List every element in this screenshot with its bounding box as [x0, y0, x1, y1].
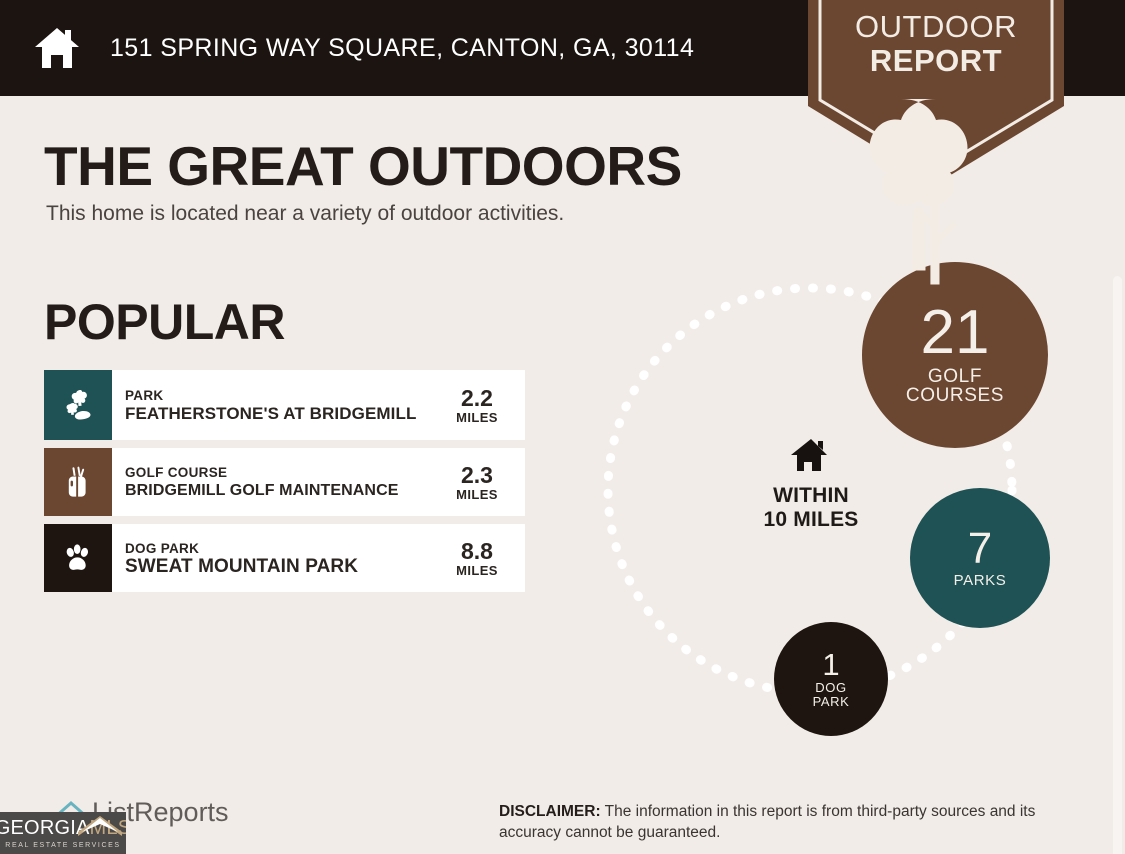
page-subtitle: This home is located near a variety of o… — [46, 202, 564, 226]
scrollbar-track[interactable] — [1108, 96, 1125, 854]
list-item[interactable]: PARK FEATHERSTONE'S AT BRIDGEMILL 2.2 MI… — [44, 370, 525, 440]
stat-count: 21 — [921, 304, 990, 363]
poi-name: FEATHERSTONE'S AT BRIDGEMILL — [125, 404, 441, 423]
georgiamls-watermark: GEORGIA MLS REAL ESTATE SERVICES — [0, 812, 126, 854]
home-icon — [34, 26, 80, 70]
poi-body: GOLF COURSE BRIDGEMILL GOLF MAINTENANCE … — [112, 448, 525, 516]
poi-distance: 8.8 MILES — [441, 539, 519, 578]
poi-icon-tile — [44, 524, 112, 592]
poi-distance: 2.3 MILES — [441, 463, 519, 502]
tree-icon — [808, 92, 1064, 288]
popular-list: PARK FEATHERSTONE'S AT BRIDGEMILL 2.2 MI… — [44, 370, 525, 600]
list-item[interactable]: GOLF COURSE BRIDGEMILL GOLF MAINTENANCE … — [44, 448, 525, 516]
badge-title-line1: OUTDOOR — [808, 10, 1064, 44]
poi-category: GOLF COURSE — [125, 465, 441, 481]
stat-count: 7 — [968, 528, 992, 570]
park-trees-icon — [60, 387, 96, 423]
badge-title-line2: REPORT — [808, 44, 1064, 78]
poi-category: DOG PARK — [125, 541, 441, 557]
poi-distance-value: 2.2 — [441, 386, 513, 410]
poi-category: PARK — [125, 388, 441, 404]
poi-body: DOG PARK SWEAT MOUNTAIN PARK 8.8 MILES — [112, 524, 525, 592]
poi-body: PARK FEATHERSTONE'S AT BRIDGEMILL 2.2 MI… — [112, 370, 525, 440]
stat-label-line1: GOLF — [928, 367, 982, 386]
poi-texts: GOLF COURSE BRIDGEMILL GOLF MAINTENANCE — [125, 465, 441, 500]
poi-icon-tile — [44, 448, 112, 516]
disclaimer: DISCLAIMER: The information in this repo… — [499, 801, 1099, 843]
paw-print-icon — [60, 540, 96, 576]
poi-icon-tile — [44, 370, 112, 440]
poi-distance: 2.2 MILES — [441, 386, 519, 425]
scrollbar-thumb[interactable] — [1113, 276, 1122, 854]
popular-heading: POPULAR — [44, 293, 285, 351]
stat-label-line2: PARK — [813, 695, 850, 708]
poi-name: SWEAT MOUNTAIN PARK — [125, 557, 441, 576]
poi-texts: PARK FEATHERSTONE'S AT BRIDGEMILL — [125, 388, 441, 423]
page-title: THE GREAT OUTDOORS — [44, 134, 682, 198]
within-line1: WITHIN — [745, 484, 877, 508]
stat-count: 1 — [822, 650, 839, 679]
roof-icon — [78, 814, 122, 836]
disclaimer-label: DISCLAIMER: — [499, 803, 601, 820]
watermark-primary: GEORGIA — [0, 817, 90, 840]
stat-label-line1: PARKS — [954, 573, 1007, 588]
poi-distance-value: 2.3 — [441, 463, 513, 487]
stat-bubble-parks[interactable]: 7 PARKS — [910, 488, 1050, 628]
stat-bubble-golf-courses[interactable]: 21 GOLF COURSES — [862, 262, 1048, 448]
poi-distance-unit: MILES — [441, 487, 513, 502]
stat-label-line2: COURSES — [906, 386, 1004, 405]
stat-label-line1: DOG — [815, 681, 846, 694]
poi-distance-unit: MILES — [441, 410, 513, 425]
stat-bubble-dog-park[interactable]: 1 DOG PARK — [774, 622, 888, 736]
poi-name: BRIDGEMILL GOLF MAINTENANCE — [125, 481, 441, 500]
watermark-subtitle: REAL ESTATE SERVICES — [5, 842, 120, 849]
outdoor-report-page: 151 SPRING WAY SQUARE, CANTON, GA, 30114… — [0, 0, 1125, 854]
poi-distance-unit: MILES — [441, 563, 513, 578]
within-radius-label: WITHIN 10 MILES — [745, 438, 877, 532]
poi-distance-value: 8.8 — [441, 539, 513, 563]
property-address: 151 SPRING WAY SQUARE, CANTON, GA, 30114 — [110, 34, 694, 63]
outdoor-report-badge: OUTDOOR REPORT — [808, 0, 1064, 184]
badge-title: OUTDOOR REPORT — [808, 10, 1064, 78]
golf-bag-icon — [60, 464, 96, 500]
poi-texts: DOG PARK SWEAT MOUNTAIN PARK — [125, 541, 441, 576]
home-icon — [790, 438, 832, 472]
within-line2: 10 MILES — [745, 508, 877, 532]
list-item[interactable]: DOG PARK SWEAT MOUNTAIN PARK 8.8 MILES — [44, 524, 525, 592]
